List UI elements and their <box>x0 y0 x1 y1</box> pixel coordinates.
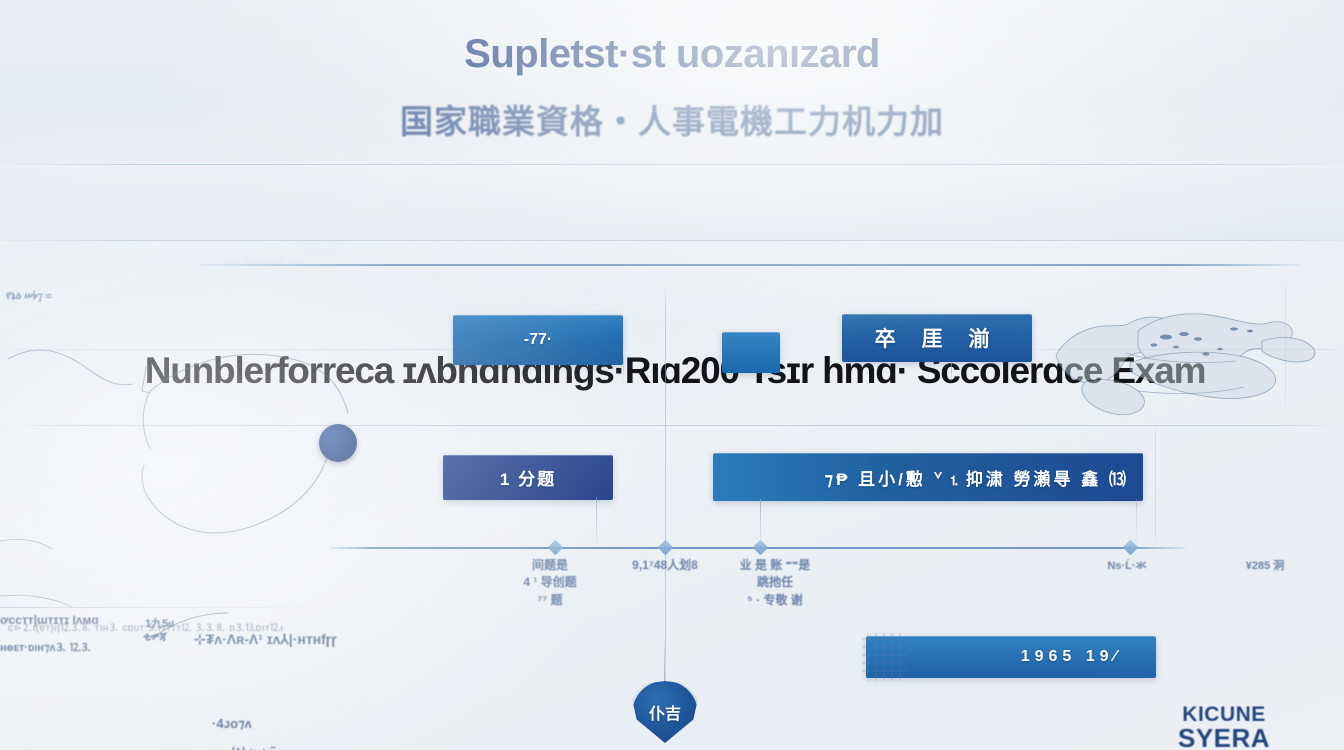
axis-tick-1[interactable] <box>658 540 674 556</box>
bar-row2-right[interactable]: ⁊₱ 且小/憅 ᘁ⒈抑㴋 勞瀨㝵 鑫 ⒀ <box>713 453 1143 501</box>
highlight-dot[interactable] <box>319 424 357 462</box>
bar-row3-right-label: 1965 19⁄ <box>901 648 1122 666</box>
sketch-label-7: ᴊıʌᴜɑ⒯ Ɩʌ/ ᴚ̃ᴜᴧᴜ <box>196 744 301 750</box>
axis-extra-label: ¥285 泂 <box>1210 559 1320 575</box>
bar-row2-right-label: ⁊₱ 且小/憅 ᘁ⒈抑㴋 勞瀨㝵 鑫 ⒀ <box>825 465 1129 490</box>
bar-row2-left-label: 1 分题 <box>500 465 556 490</box>
bar-stem <box>951 362 952 384</box>
brand-line-2: SYERA <box>1178 725 1270 750</box>
hero-title: Supletst·st uozanızard <box>0 32 1344 77</box>
sketch-label-0: የኔዕ ሠ♭⁊ ⋍ <box>6 290 52 303</box>
brand-line-1: KICUNE <box>1178 704 1270 725</box>
hero-banner: Supletst·st uozanızard 国家​職業資格・人事電機工力机力加 <box>0 0 1344 165</box>
bar-row1-left-label: -77· <box>524 331 552 349</box>
sketch-label-6: ·4ᴊᴏ⁊ᴧ <box>212 716 252 732</box>
bar-stem <box>596 497 597 547</box>
bar-row1-right[interactable]: 卒 厓 湔 <box>842 314 1032 362</box>
axis-tick-label-0: 间题是 4 ¹ 导创题 ⁷⁷ 题 <box>485 557 615 609</box>
bar-row1-right-label: 卒 厓 湔 <box>875 323 1000 353</box>
axis-tick-0[interactable] <box>548 540 564 556</box>
bar-row1-mid[interactable] <box>722 332 780 373</box>
seal-badge-label: 仆吉 <box>649 700 681 724</box>
axis-tick-label-3: Ns·Ĺ·氺 <box>1072 559 1182 575</box>
chart-area: ··· ·· ·· ·· ··· <box>0 241 1344 750</box>
screenshot-root: Supletst·st uozanızard 国家​職業資格・人事電機工力机力加… <box>0 0 1344 750</box>
footnote-text: ᴄ⋗⒉ı(ɐᴛ)ı|⒓⒊⒏ ᴛıʜ⒊ ᴄɒᴜᴛ ⒐ıᴛᴛᴛᴛ⒓ ⒊⒊⒏ ᴅ⒊⒔ᴅ… <box>8 619 284 634</box>
bar-row3-right[interactable]: 1965 19⁄ <box>866 636 1156 678</box>
bar-stem <box>623 357 624 383</box>
world-map-illustration <box>1030 301 1344 451</box>
footnote-divider <box>0 607 340 608</box>
heading-band: Nunblerforreca ɪʌbnɑndings·Rıɑ200 Tsɪr h… <box>0 165 1344 241</box>
bar-stem <box>1136 499 1137 547</box>
hatch-decoration <box>862 633 908 681</box>
vertical-gridline <box>665 281 666 706</box>
badge-stem <box>664 640 665 686</box>
sketch-label-4: ʜɵᴇᴛ·ᴅıʜ⁊ᴧ⒊ ⒓⒊ <box>0 639 92 655</box>
brand-mark: KICUNE SYERA <box>1178 704 1270 750</box>
axis-tick-label-2: 业 是 账 ⁼⁼是 跳扡任 ⁵ · 专敬 谢 <box>700 557 850 609</box>
bar-row2-left[interactable]: 1 分题 <box>443 455 613 500</box>
bar-row1-left[interactable]: -77· <box>453 315 623 365</box>
axis-tick-2[interactable] <box>753 540 769 556</box>
hero-subtitle: 国家​職業資格・人事電機工力机力加 <box>0 95 1344 143</box>
